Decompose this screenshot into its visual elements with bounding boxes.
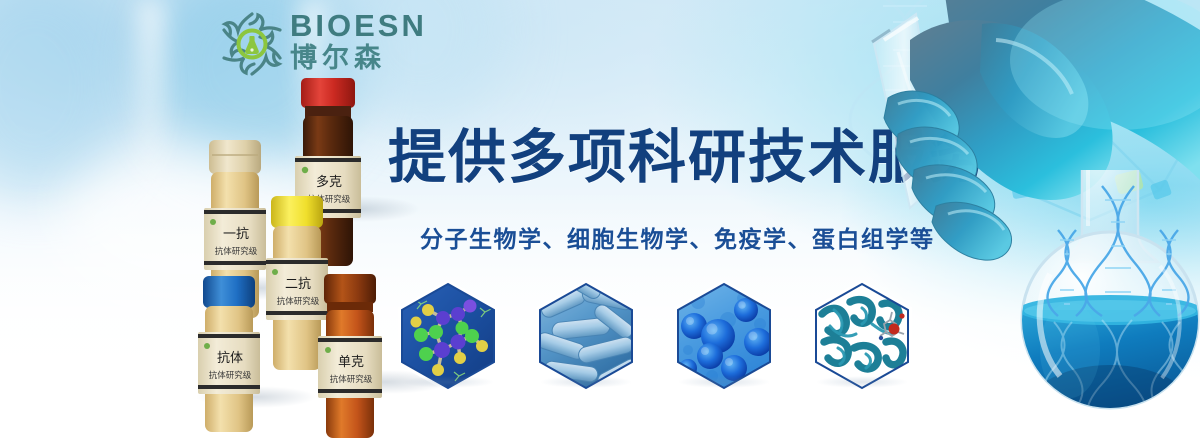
logo-chinese-name: 博尔森	[290, 43, 410, 74]
vial-sub-label: 抗体研究级	[209, 370, 252, 381]
vial-label-text: 二抗	[285, 277, 311, 292]
promo-banner: 多克 抗体研究级 一抗 抗体研究级	[0, 0, 1200, 440]
hex-cell-culture[interactable]	[672, 280, 776, 392]
hex-bacteria-micrograph[interactable]	[534, 280, 638, 392]
vial-sub-label: 抗体研究级	[277, 296, 320, 307]
vial-sub-label: 抗体研究级	[330, 374, 373, 385]
bioesn-logo[interactable]: BIOESN 博尔森	[218, 8, 408, 84]
vial-label-text: 多克	[316, 174, 342, 190]
logo-english-name: BIOESN	[290, 10, 410, 42]
vial-label-text: 一抗	[223, 227, 249, 242]
vial-monoclonal: 单克 抗体研究级	[318, 274, 382, 440]
flask-with-dna	[1010, 170, 1200, 440]
vial-sub-label: 抗体研究级	[215, 246, 258, 257]
hex-shadow	[678, 376, 770, 388]
hex-shadow	[402, 376, 494, 388]
service-hexagon-row	[396, 280, 916, 392]
vial-antibody-blue: 抗体 抗体研究级	[198, 276, 260, 436]
vial-label-text: 抗体	[217, 351, 243, 366]
bioesn-emblem-icon	[218, 10, 286, 78]
hex-molecular-structure[interactable]	[396, 280, 500, 392]
hex-shadow	[816, 376, 908, 388]
vial-label-text: 单克	[338, 355, 364, 370]
page-subtitle: 分子生物学、细胞生物学、免疫学、蛋白组学等	[420, 224, 935, 256]
hex-shadow	[540, 376, 632, 388]
